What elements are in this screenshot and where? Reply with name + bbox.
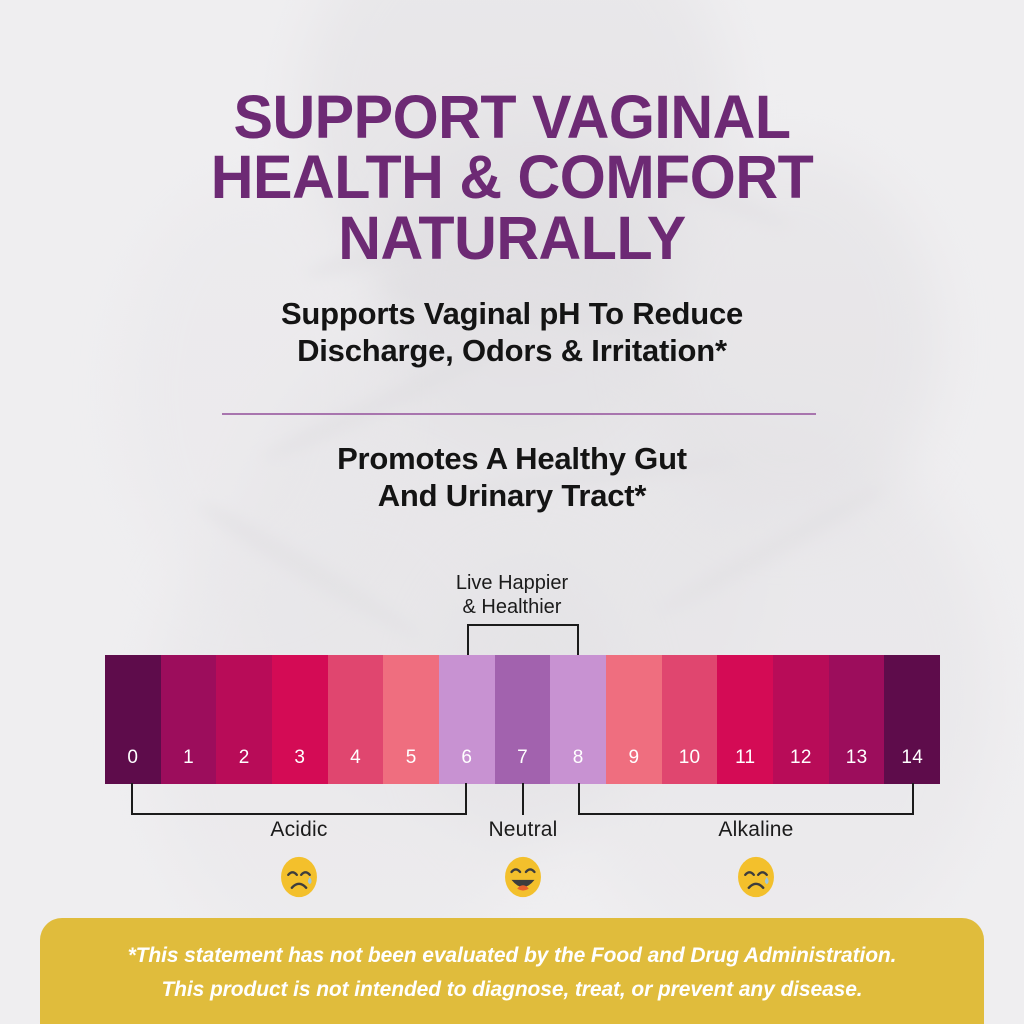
ph-band-12: 12: [773, 655, 829, 784]
ph-band-1: 1: [161, 655, 217, 784]
live-happier-bracket: [467, 624, 579, 656]
ph-band-label: 8: [573, 748, 584, 784]
ph-band-label: 13: [846, 748, 868, 784]
ph-band-label: 5: [406, 748, 417, 784]
sad-face-with-tear-icon: [636, 854, 876, 900]
ph-band-2: 2: [216, 655, 272, 784]
ph-band-label: 4: [350, 748, 361, 784]
section-divider: [222, 413, 816, 415]
fda-disclaimer-banner: *This statement has not been evaluated b…: [40, 918, 984, 1024]
ph-band-label: 1: [183, 748, 194, 784]
ph-band-label: 7: [517, 748, 528, 784]
headline-line-2: HEALTH & COMFORT: [15, 147, 1008, 207]
ph-band-3: 3: [272, 655, 328, 784]
subheadline-primary-line-1: Supports Vaginal pH To Reduce: [0, 296, 1024, 333]
subheadline-secondary-line-1: Promotes A Healthy Gut: [0, 440, 1024, 477]
zone-acidic: Acidic: [179, 818, 419, 900]
sad-face-with-tear-icon: [179, 854, 419, 900]
ph-band-label: 9: [628, 748, 639, 784]
ph-band-14: 14: [884, 655, 940, 784]
alkaline-bracket: [578, 783, 914, 815]
ph-band-label: 12: [790, 748, 812, 784]
ph-band-0: 0: [105, 655, 161, 784]
neutral-tick: [522, 783, 524, 815]
ph-band-label: 2: [239, 748, 250, 784]
subheadline-secondary-line-2: And Urinary Tract*: [0, 477, 1024, 514]
ph-scale: 01234567891011121314: [105, 655, 940, 784]
ph-band-8: 8: [550, 655, 606, 784]
ph-band-5: 5: [383, 655, 439, 784]
ph-band-label: 0: [127, 748, 138, 784]
live-happier-line-2: & Healthier: [0, 596, 1024, 620]
live-happier-label: Live Happier & Healthier: [0, 572, 1024, 619]
headline-line-1: SUPPORT VAGINAL: [15, 87, 1008, 147]
ph-band-9: 9: [606, 655, 662, 784]
ph-band-10: 10: [662, 655, 718, 784]
acidic-bracket: [131, 783, 467, 815]
ph-band-label: 6: [461, 748, 472, 784]
ph-band-11: 11: [717, 655, 773, 784]
ph-band-label: 14: [901, 748, 923, 784]
page-title: SUPPORT VAGINAL HEALTH & COMFORT NATURAL…: [15, 87, 1008, 268]
ph-band-7: 7: [495, 655, 551, 784]
zone-neutral-label: Neutral: [403, 818, 643, 842]
disclaimer-line-1: *This statement has not been evaluated b…: [128, 939, 897, 973]
zone-neutral: Neutral: [403, 818, 643, 900]
ph-scale-bands: 01234567891011121314: [105, 655, 940, 784]
zone-acidic-label: Acidic: [179, 818, 419, 842]
subheadline-primary: Supports Vaginal pH To Reduce Discharge,…: [0, 296, 1024, 369]
ph-band-label: 3: [294, 748, 305, 784]
ph-band-label: 11: [735, 748, 755, 784]
subheadline-secondary: Promotes A Healthy Gut And Urinary Tract…: [0, 440, 1024, 514]
ph-band-13: 13: [829, 655, 885, 784]
ph-band-label: 10: [679, 748, 701, 784]
ph-band-4: 4: [328, 655, 384, 784]
subheadline-primary-line-2: Discharge, Odors & Irritation*: [0, 333, 1024, 370]
headline-line-3: NATURALLY: [15, 208, 1008, 268]
ph-band-6: 6: [439, 655, 495, 784]
disclaimer-line-2: This product is not intended to diagnose…: [161, 973, 862, 1007]
grinning-face-icon: [403, 854, 643, 900]
live-happier-line-1: Live Happier: [0, 572, 1024, 596]
infographic-canvas: SUPPORT VAGINAL HEALTH & COMFORT NATURAL…: [0, 0, 1024, 1024]
zone-alkaline: Alkaline: [636, 818, 876, 900]
zone-alkaline-label: Alkaline: [636, 818, 876, 842]
